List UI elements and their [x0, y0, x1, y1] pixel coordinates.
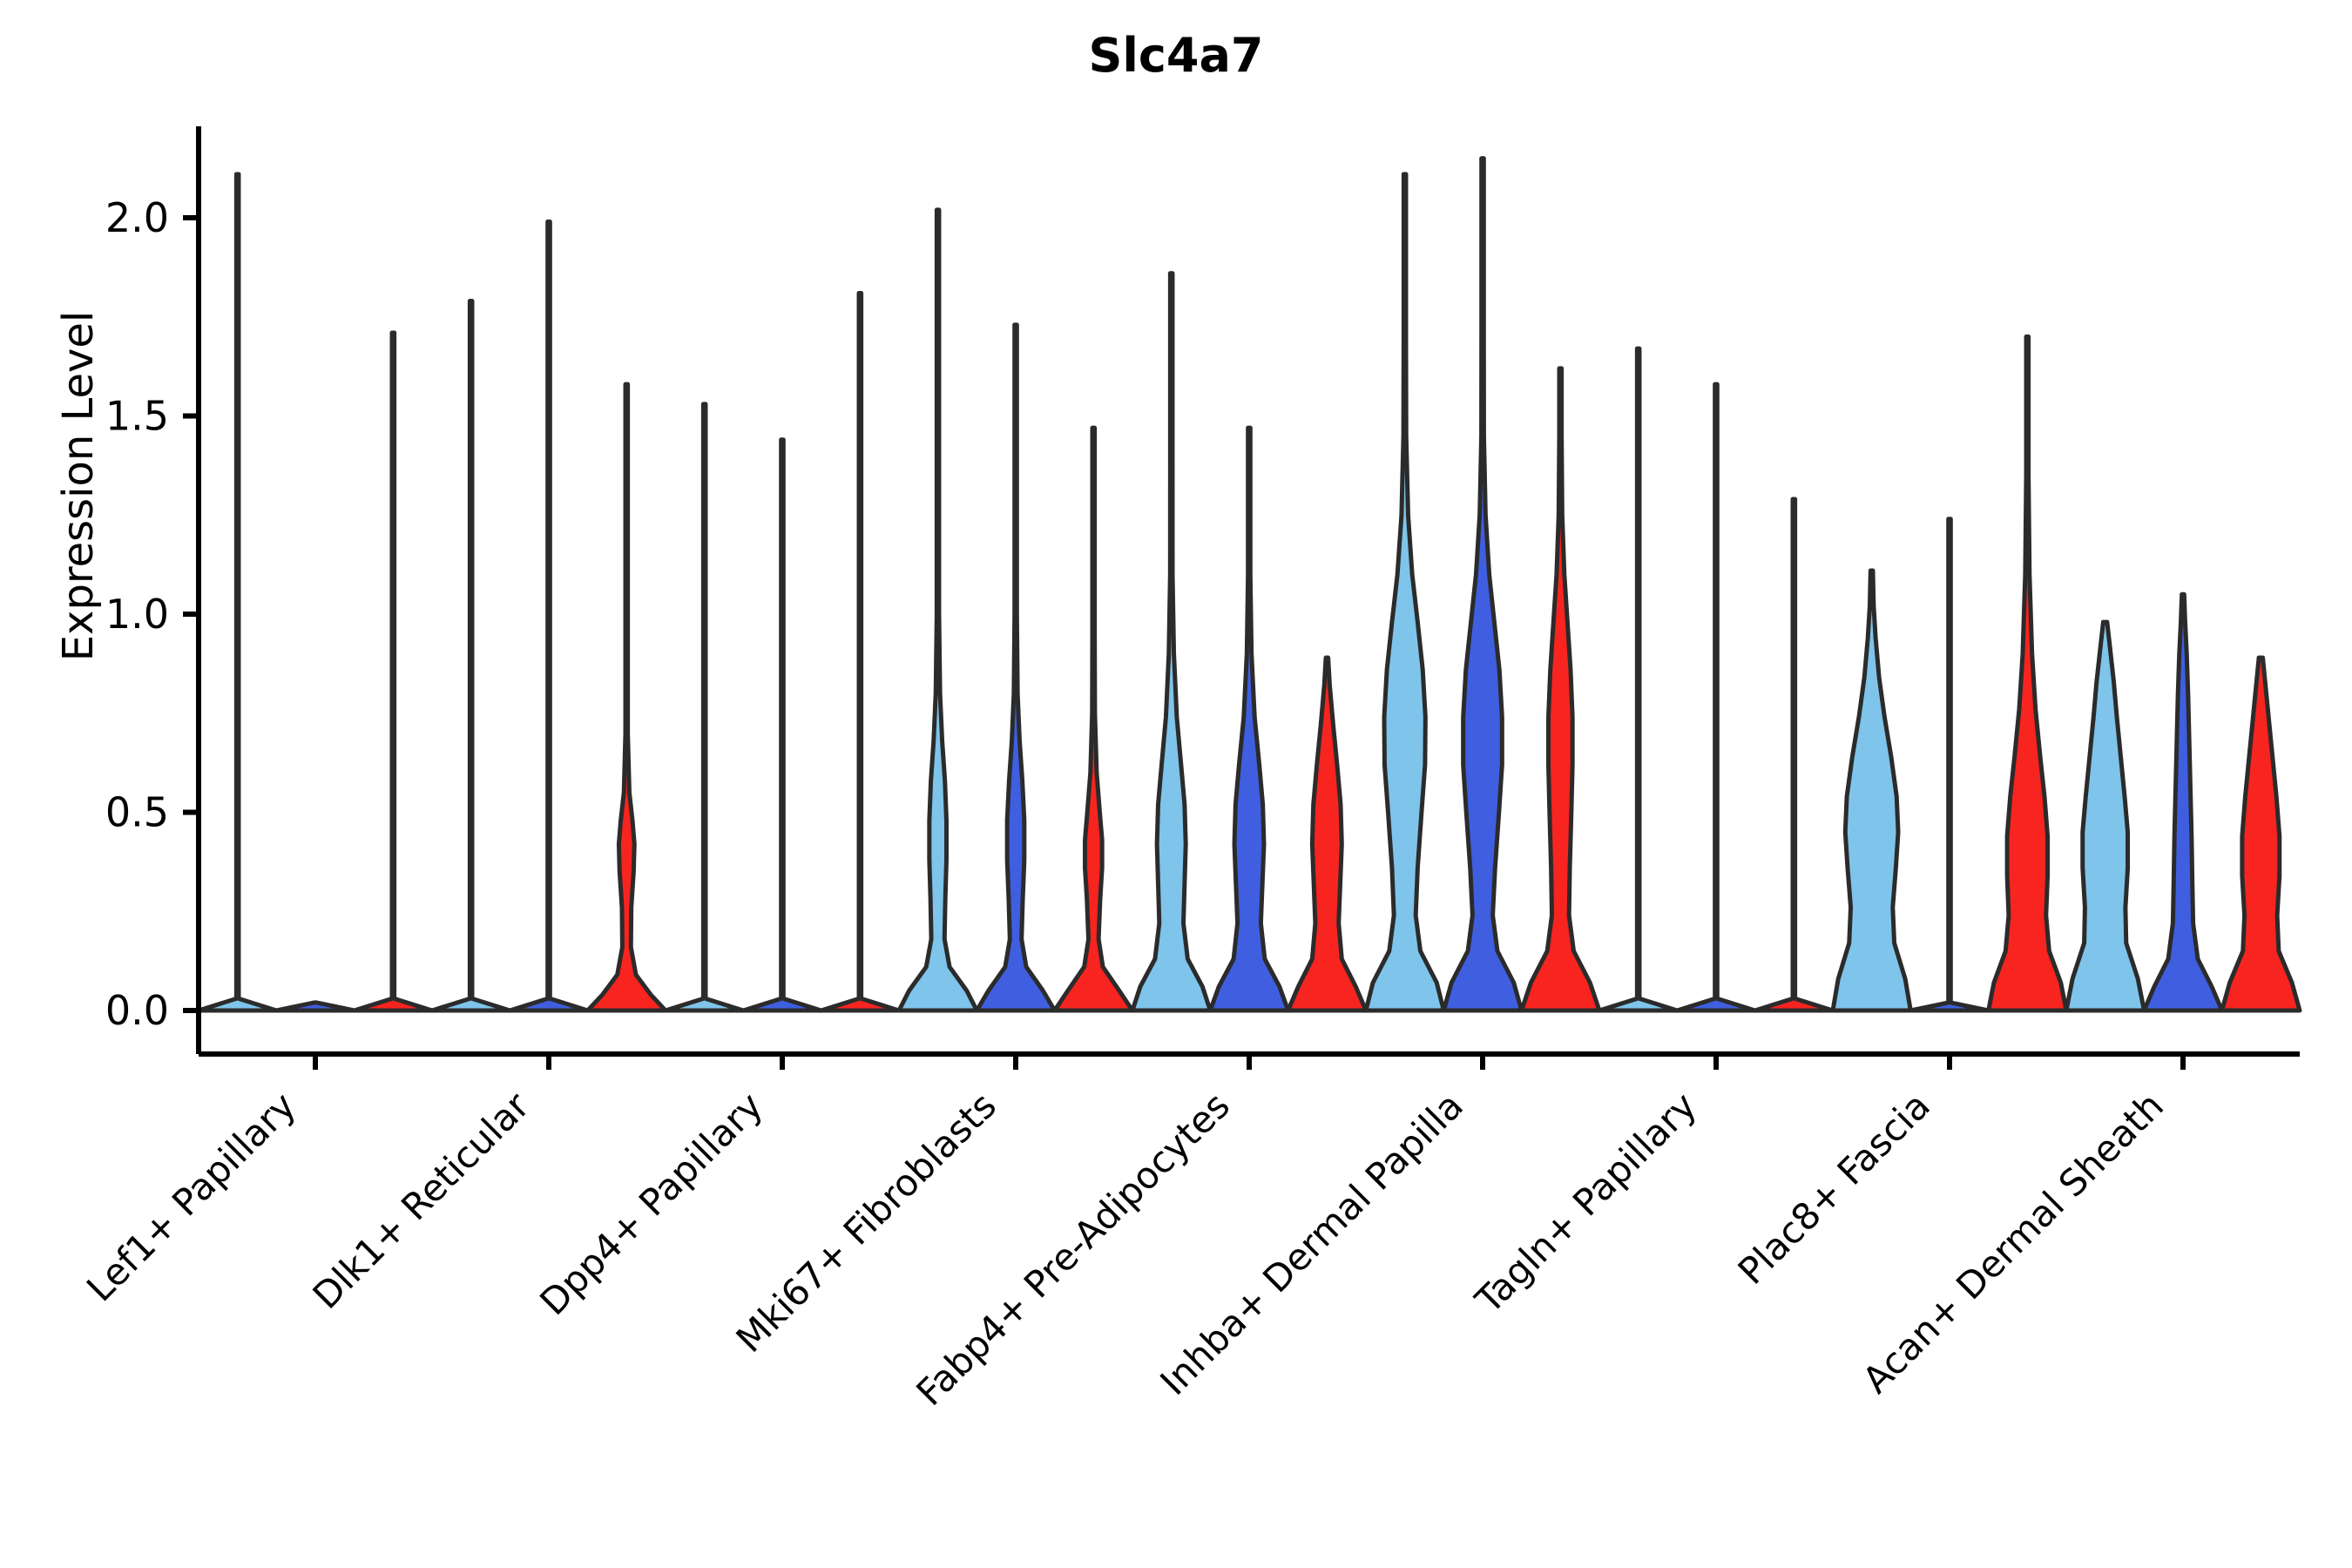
chart-canvas: 0.00.51.01.52.0 Lef1+ PapillaryDlk1+ Ret… [0, 0, 2352, 1568]
violin-series-3[interactable] [821, 293, 899, 1010]
x-tick-label: Mki67+ Fibroblasts [728, 1084, 1004, 1360]
violin-body[interactable] [899, 210, 977, 1010]
violin-series-1[interactable] [1132, 274, 1210, 1010]
y-tick-label: 1.5 [105, 393, 169, 440]
violin-body[interactable] [1055, 428, 1132, 1010]
x-tick-label: Lef1+ Papillary [78, 1084, 304, 1309]
x-tick-layer: Lef1+ PapillaryDlk1+ ReticularDpp4+ Papi… [78, 1054, 2183, 1414]
violin-body[interactable] [1288, 658, 1366, 1010]
violin-body[interactable] [510, 222, 587, 1010]
violin-series-1[interactable] [1833, 571, 1910, 1010]
violin-body[interactable] [1755, 499, 1833, 1010]
violin-body[interactable] [199, 174, 276, 1010]
violin-series-3[interactable] [588, 384, 666, 1010]
violin-series-2[interactable] [743, 440, 821, 1010]
violin-body[interactable] [821, 293, 899, 1010]
violin-series-2[interactable] [977, 325, 1054, 1010]
violin-body[interactable] [2144, 594, 2221, 1010]
violin-series-2[interactable] [1210, 428, 1288, 1010]
y-tick-layer: 0.00.51.01.52.0 [105, 194, 199, 1034]
violin-body[interactable] [743, 440, 821, 1010]
violin-series-1[interactable] [1599, 348, 1677, 1010]
violin-series-3[interactable] [355, 333, 432, 1010]
x-tick-label: Plac8+ Fascia [1730, 1084, 1938, 1292]
violin-series-3[interactable] [1055, 428, 1132, 1010]
violin-body[interactable] [432, 301, 510, 1010]
violin-body[interactable] [2222, 658, 2300, 1010]
x-tick-label: Tagln+ Papillary [1467, 1084, 1705, 1321]
violin-series-2[interactable] [1910, 519, 1988, 1010]
x-tick-label: Dlk1+ Reticular [305, 1084, 538, 1317]
violin-body[interactable] [977, 325, 1054, 1010]
violin-body[interactable] [1210, 428, 1288, 1010]
violin-body[interactable] [2066, 622, 2144, 1010]
violin-series-1[interactable] [899, 210, 977, 1010]
violin-series-3[interactable] [1288, 658, 1366, 1010]
violin-series-3[interactable] [1522, 368, 1599, 1010]
violin-plot-figure: Slc4a7 Expression Level 0.00.51.01.52.0 … [0, 0, 2352, 1568]
violin-body[interactable] [276, 1003, 354, 1010]
violin-series-2[interactable] [510, 222, 587, 1010]
violin-body[interactable] [1910, 519, 1988, 1010]
violin-series-3[interactable] [1989, 337, 2066, 1011]
y-tick-label: 2.0 [105, 194, 169, 241]
violin-series-1[interactable] [1366, 174, 1443, 1010]
violin-series-2[interactable] [1443, 159, 1521, 1010]
violin-body[interactable] [1677, 384, 1754, 1010]
violin-body[interactable] [588, 384, 666, 1010]
violin-body[interactable] [355, 333, 432, 1010]
violin-body[interactable] [1989, 337, 2066, 1011]
violin-body[interactable] [1443, 159, 1521, 1010]
violin-series-1[interactable] [199, 174, 276, 1010]
violin-body[interactable] [1833, 571, 1910, 1010]
violin-body[interactable] [1132, 274, 1210, 1010]
violin-series-2[interactable] [276, 1003, 354, 1010]
violin-body[interactable] [1599, 348, 1677, 1010]
violin-series-3[interactable] [1755, 499, 1833, 1010]
violin-series-2[interactable] [1677, 384, 1754, 1010]
violin-series-1[interactable] [432, 301, 510, 1010]
y-tick-label: 1.0 [105, 591, 169, 638]
x-tick-label: Dpp4+ Papillary [531, 1084, 771, 1323]
y-tick-label: 0.5 [105, 789, 169, 836]
violin-series-2[interactable] [2144, 594, 2221, 1010]
y-tick-label: 0.0 [105, 987, 169, 1034]
violin-series-1[interactable] [2066, 622, 2144, 1010]
violin-body[interactable] [1366, 174, 1443, 1010]
violin-body[interactable] [1522, 368, 1599, 1010]
violin-layer [199, 159, 2300, 1010]
violin-series-3[interactable] [2222, 658, 2300, 1010]
violin-series-1[interactable] [666, 404, 743, 1010]
violin-body[interactable] [666, 404, 743, 1010]
